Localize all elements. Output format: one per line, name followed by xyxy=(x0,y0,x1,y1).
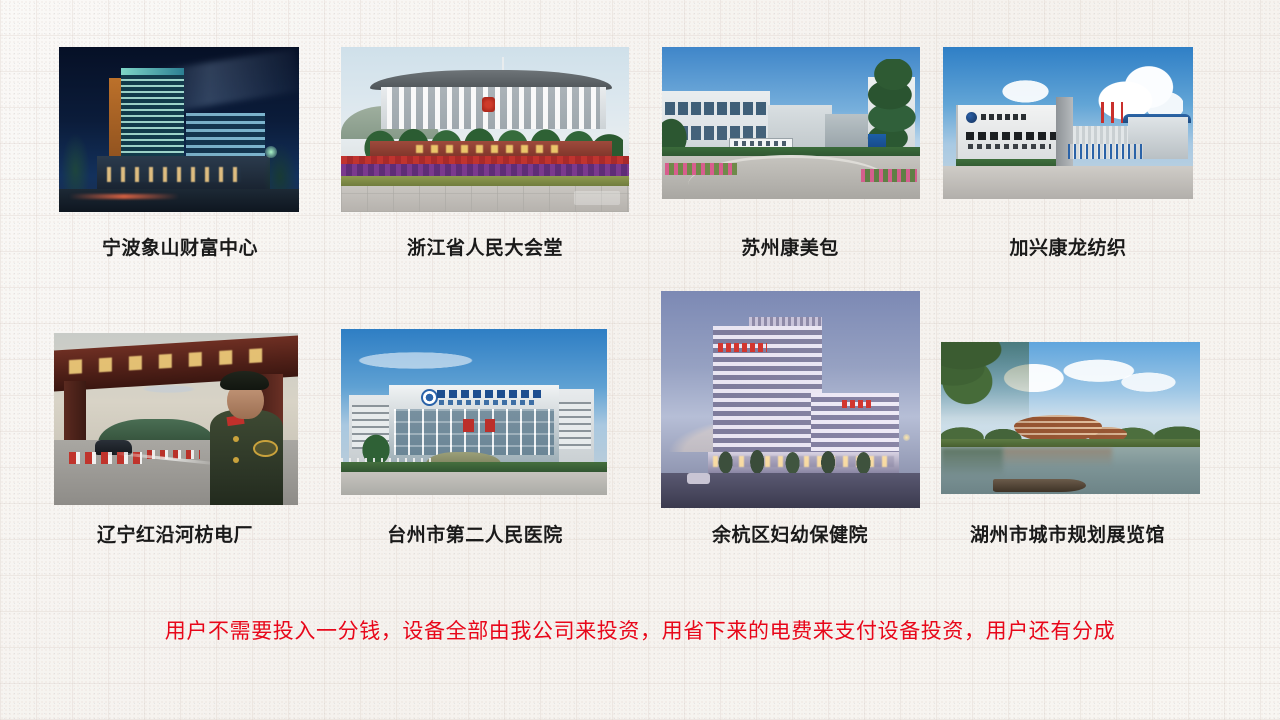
company-sign-text xyxy=(734,141,786,146)
watermark xyxy=(574,191,620,205)
huzhou-urban-planning-exhibition-hall-photo[interactable] xyxy=(941,342,1200,494)
blue-fence xyxy=(1068,144,1143,159)
gantry-lamp xyxy=(142,385,196,394)
caption-item-2: 浙江省人民大会堂 xyxy=(330,238,640,260)
yuhang-maternal-child-health-hospital-photo[interactable] xyxy=(661,291,920,508)
zhejiang-great-hall-of-the-people-photo[interactable] xyxy=(341,47,629,212)
street-lamp-glow xyxy=(903,434,910,441)
suzhou-kangmeibao-photo[interactable] xyxy=(662,47,920,199)
caption-item-1: 宁波象山财富中心 xyxy=(35,238,325,260)
caption-item-7: 余杭区妇幼保健院 xyxy=(665,525,915,547)
liaoning-hongyanhe-nuclear-plant-photo[interactable] xyxy=(54,333,298,505)
slide-canvas: 宁波象山财富中心 浙江省人民大会堂 xyxy=(0,0,1280,720)
willow-branches xyxy=(941,342,1029,436)
company-name-chinese xyxy=(966,132,1056,140)
flower-bed-right xyxy=(861,169,918,183)
podium-lights xyxy=(107,167,241,182)
caption-item-5: 辽宁红沿河枋电厂 xyxy=(30,525,320,547)
cloud-wisp xyxy=(352,346,512,376)
bottom-statement: 用户不需要投入一分钱，设备全部由我公司来投资，用省下来的电费来支付设备投资，用户… xyxy=(0,616,1280,646)
logo-wordmark xyxy=(981,114,1026,120)
cloud-small xyxy=(993,71,1058,104)
forecourt-pavement xyxy=(943,166,1193,199)
wing-red-signage xyxy=(842,400,873,409)
light-trail xyxy=(69,194,179,199)
hospital-name-chinese xyxy=(437,390,543,397)
glass-curtain-wall xyxy=(394,409,554,455)
flagpoles xyxy=(1101,102,1124,123)
foreground-ground xyxy=(59,189,299,212)
company-name-english xyxy=(968,144,1051,149)
flower-bed-left xyxy=(665,163,737,175)
louvers-right xyxy=(554,402,591,448)
caption-item-3: 苏州康美包 xyxy=(665,238,915,260)
jiaxing-cone-denim-textile-photo[interactable] xyxy=(943,47,1193,199)
forecourt-pavement xyxy=(341,472,607,495)
cone-denim-logo xyxy=(966,112,977,123)
hall-reflection xyxy=(1003,448,1112,466)
wooden-boat xyxy=(993,479,1086,493)
tower-red-signage xyxy=(718,343,767,352)
caption-item-8: 湖州市城市规划展览馆 xyxy=(935,525,1200,547)
red-banner-right xyxy=(485,419,496,432)
hospital-name-english xyxy=(439,400,535,404)
caption-item-6: 台州市第二人民医院 xyxy=(320,525,630,547)
stone-sign-text xyxy=(416,145,566,153)
ningbo-xiangshan-wealth-center-photo[interactable] xyxy=(59,47,299,212)
hospital-logo xyxy=(421,389,438,406)
taizhou-second-peoples-hospital-photo[interactable] xyxy=(341,329,607,495)
caption-item-4: 加兴康龙纺织 xyxy=(938,238,1198,260)
tree-left xyxy=(61,133,90,196)
red-banner-left xyxy=(463,419,474,432)
soldier-cap xyxy=(220,371,269,390)
national-emblem xyxy=(482,97,495,112)
car xyxy=(687,473,710,484)
soldier-uniform xyxy=(210,410,283,505)
tree-reflection xyxy=(941,448,1003,475)
tower-crown xyxy=(121,68,183,75)
